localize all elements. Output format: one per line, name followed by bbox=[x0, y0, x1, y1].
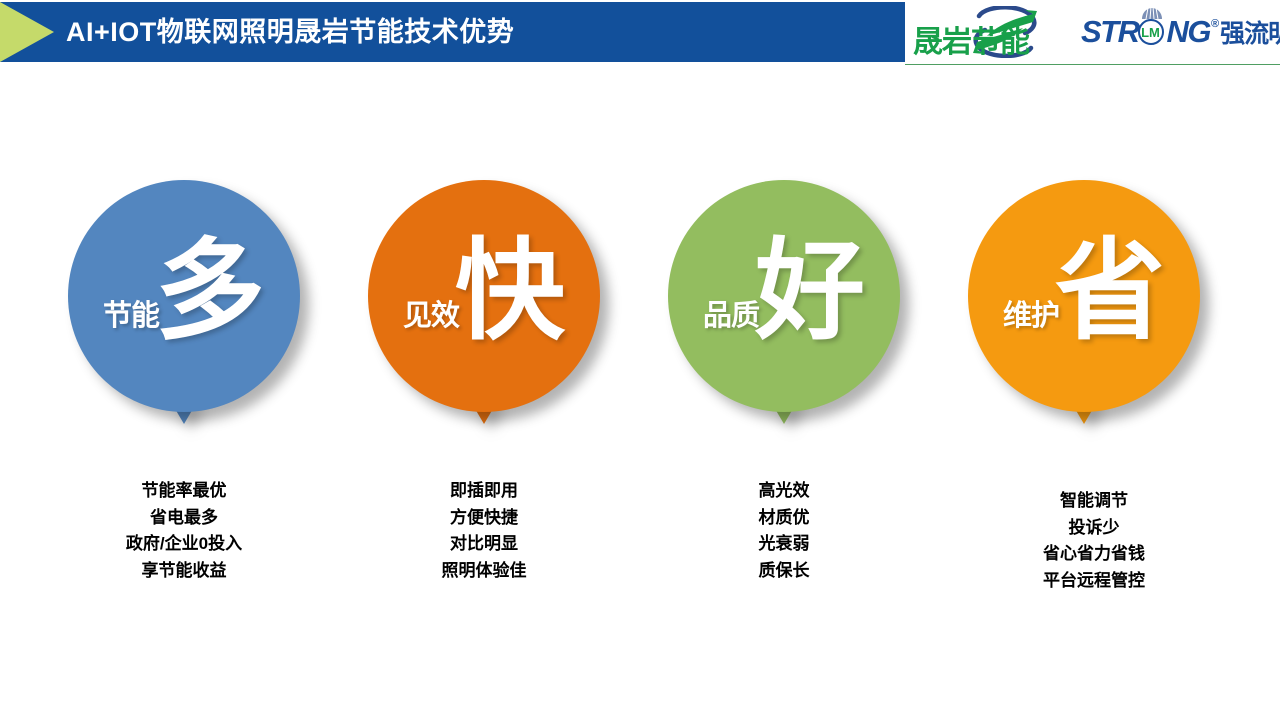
list-item: 质保长 bbox=[654, 558, 914, 585]
lm-text: LM bbox=[1138, 19, 1164, 45]
shengyan-brand-logo: 晟岩节能 bbox=[911, 4, 1079, 60]
company-logo: 晟岩节能 STR LM NG ® 强流明照明 bbox=[905, 0, 1280, 65]
bubble-small-word: 见效 bbox=[403, 292, 459, 334]
list-item: 节能率最优 bbox=[54, 478, 314, 505]
list-item: 智能调节 bbox=[964, 488, 1224, 515]
feature-list: 节能率最优 省电最多 政府/企业0投入 享节能收益 bbox=[54, 478, 314, 584]
list-item: 平台远程管控 bbox=[964, 568, 1224, 595]
bubble-labels: 节能 多 bbox=[68, 180, 300, 412]
list-item: 省心省力省钱 bbox=[964, 541, 1224, 568]
benefit-bubble: 节能 多 bbox=[68, 180, 310, 422]
list-item: 政府/企业0投入 bbox=[54, 531, 314, 558]
list-item: 省电最多 bbox=[54, 505, 314, 532]
bubble-small-word: 品质 bbox=[703, 292, 759, 334]
list-item: 光衰弱 bbox=[654, 531, 914, 558]
list-item: 方便快捷 bbox=[354, 505, 614, 532]
strong-wordmark: STR LM NG ® bbox=[1081, 14, 1219, 50]
list-item: 对比明显 bbox=[354, 531, 614, 558]
shengyan-brand-text: 晟岩节能 bbox=[913, 17, 1029, 61]
benefit-bubble: 品质 好 bbox=[668, 180, 910, 422]
page-title: AI+IOT物联网照明晟岩节能技术优势 bbox=[66, 2, 514, 62]
strong-text-part2: NG bbox=[1167, 14, 1211, 50]
lamp-dome-icon bbox=[1141, 6, 1163, 19]
benefit-bubble: 见效 快 bbox=[368, 180, 610, 422]
list-item: 享节能收益 bbox=[54, 558, 314, 585]
bubble-big-word: 快 bbox=[455, 237, 565, 347]
bubble-big-word: 多 bbox=[155, 237, 265, 347]
bubble-labels: 维护 省 bbox=[968, 180, 1200, 412]
bubble-big-word: 好 bbox=[755, 237, 865, 347]
feature-list: 即插即用 方便快捷 对比明显 照明体验佳 bbox=[354, 478, 614, 584]
list-item: 投诉少 bbox=[964, 515, 1224, 542]
feature-list: 智能调节 投诉少 省心省力省钱 平台远程管控 bbox=[964, 488, 1224, 594]
feature-list: 高光效 材质优 光衰弱 质保长 bbox=[654, 478, 914, 584]
list-item: 即插即用 bbox=[354, 478, 614, 505]
bubble-small-word: 节能 bbox=[103, 292, 159, 334]
list-item: 照明体验佳 bbox=[354, 558, 614, 585]
bubble-small-word: 维护 bbox=[1003, 292, 1059, 334]
bubble-labels: 见效 快 bbox=[368, 180, 600, 412]
list-item: 高光效 bbox=[654, 478, 914, 505]
strong-lm-badge-icon: LM bbox=[1138, 17, 1168, 47]
strong-text-part1: STR bbox=[1081, 14, 1139, 50]
sub-brand-text: 强流明照明 bbox=[1220, 14, 1280, 50]
registered-trademark-icon: ® bbox=[1211, 18, 1219, 30]
bubble-labels: 品质 好 bbox=[668, 180, 900, 412]
bubble-big-word: 省 bbox=[1055, 237, 1165, 347]
benefit-bubble: 维护 省 bbox=[968, 180, 1210, 422]
list-item: 材质优 bbox=[654, 505, 914, 532]
slide-header: AI+IOT物联网照明晟岩节能技术优势 晟岩节能 STR LM NG bbox=[0, 0, 1280, 64]
